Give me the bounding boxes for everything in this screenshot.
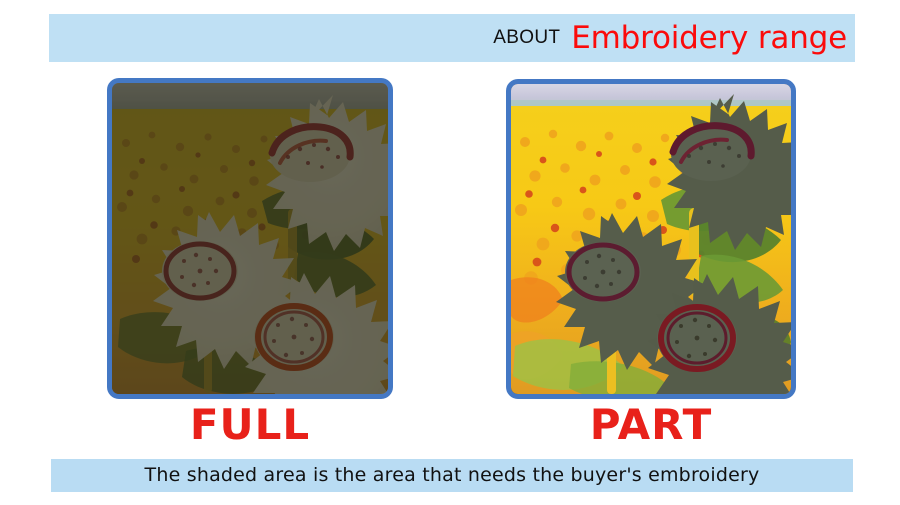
footer-banner: The shaded area is the area that needs t… xyxy=(51,459,853,492)
slide-root: ABOUT Embroidery range xyxy=(0,0,900,505)
header-eyebrow: ABOUT xyxy=(493,28,560,48)
header-banner: ABOUT Embroidery range xyxy=(49,14,855,62)
sunflower-image-part xyxy=(511,84,791,394)
panel-label-part: PART xyxy=(506,404,796,446)
image-frame-full[interactable] xyxy=(107,78,393,399)
footer-note: The shaded area is the area that needs t… xyxy=(145,466,760,485)
panel-label-full: FULL xyxy=(107,404,393,446)
sunflower-image-full xyxy=(112,83,388,394)
image-frame-part[interactable] xyxy=(506,79,796,399)
page-title: Embroidery range xyxy=(571,23,847,54)
